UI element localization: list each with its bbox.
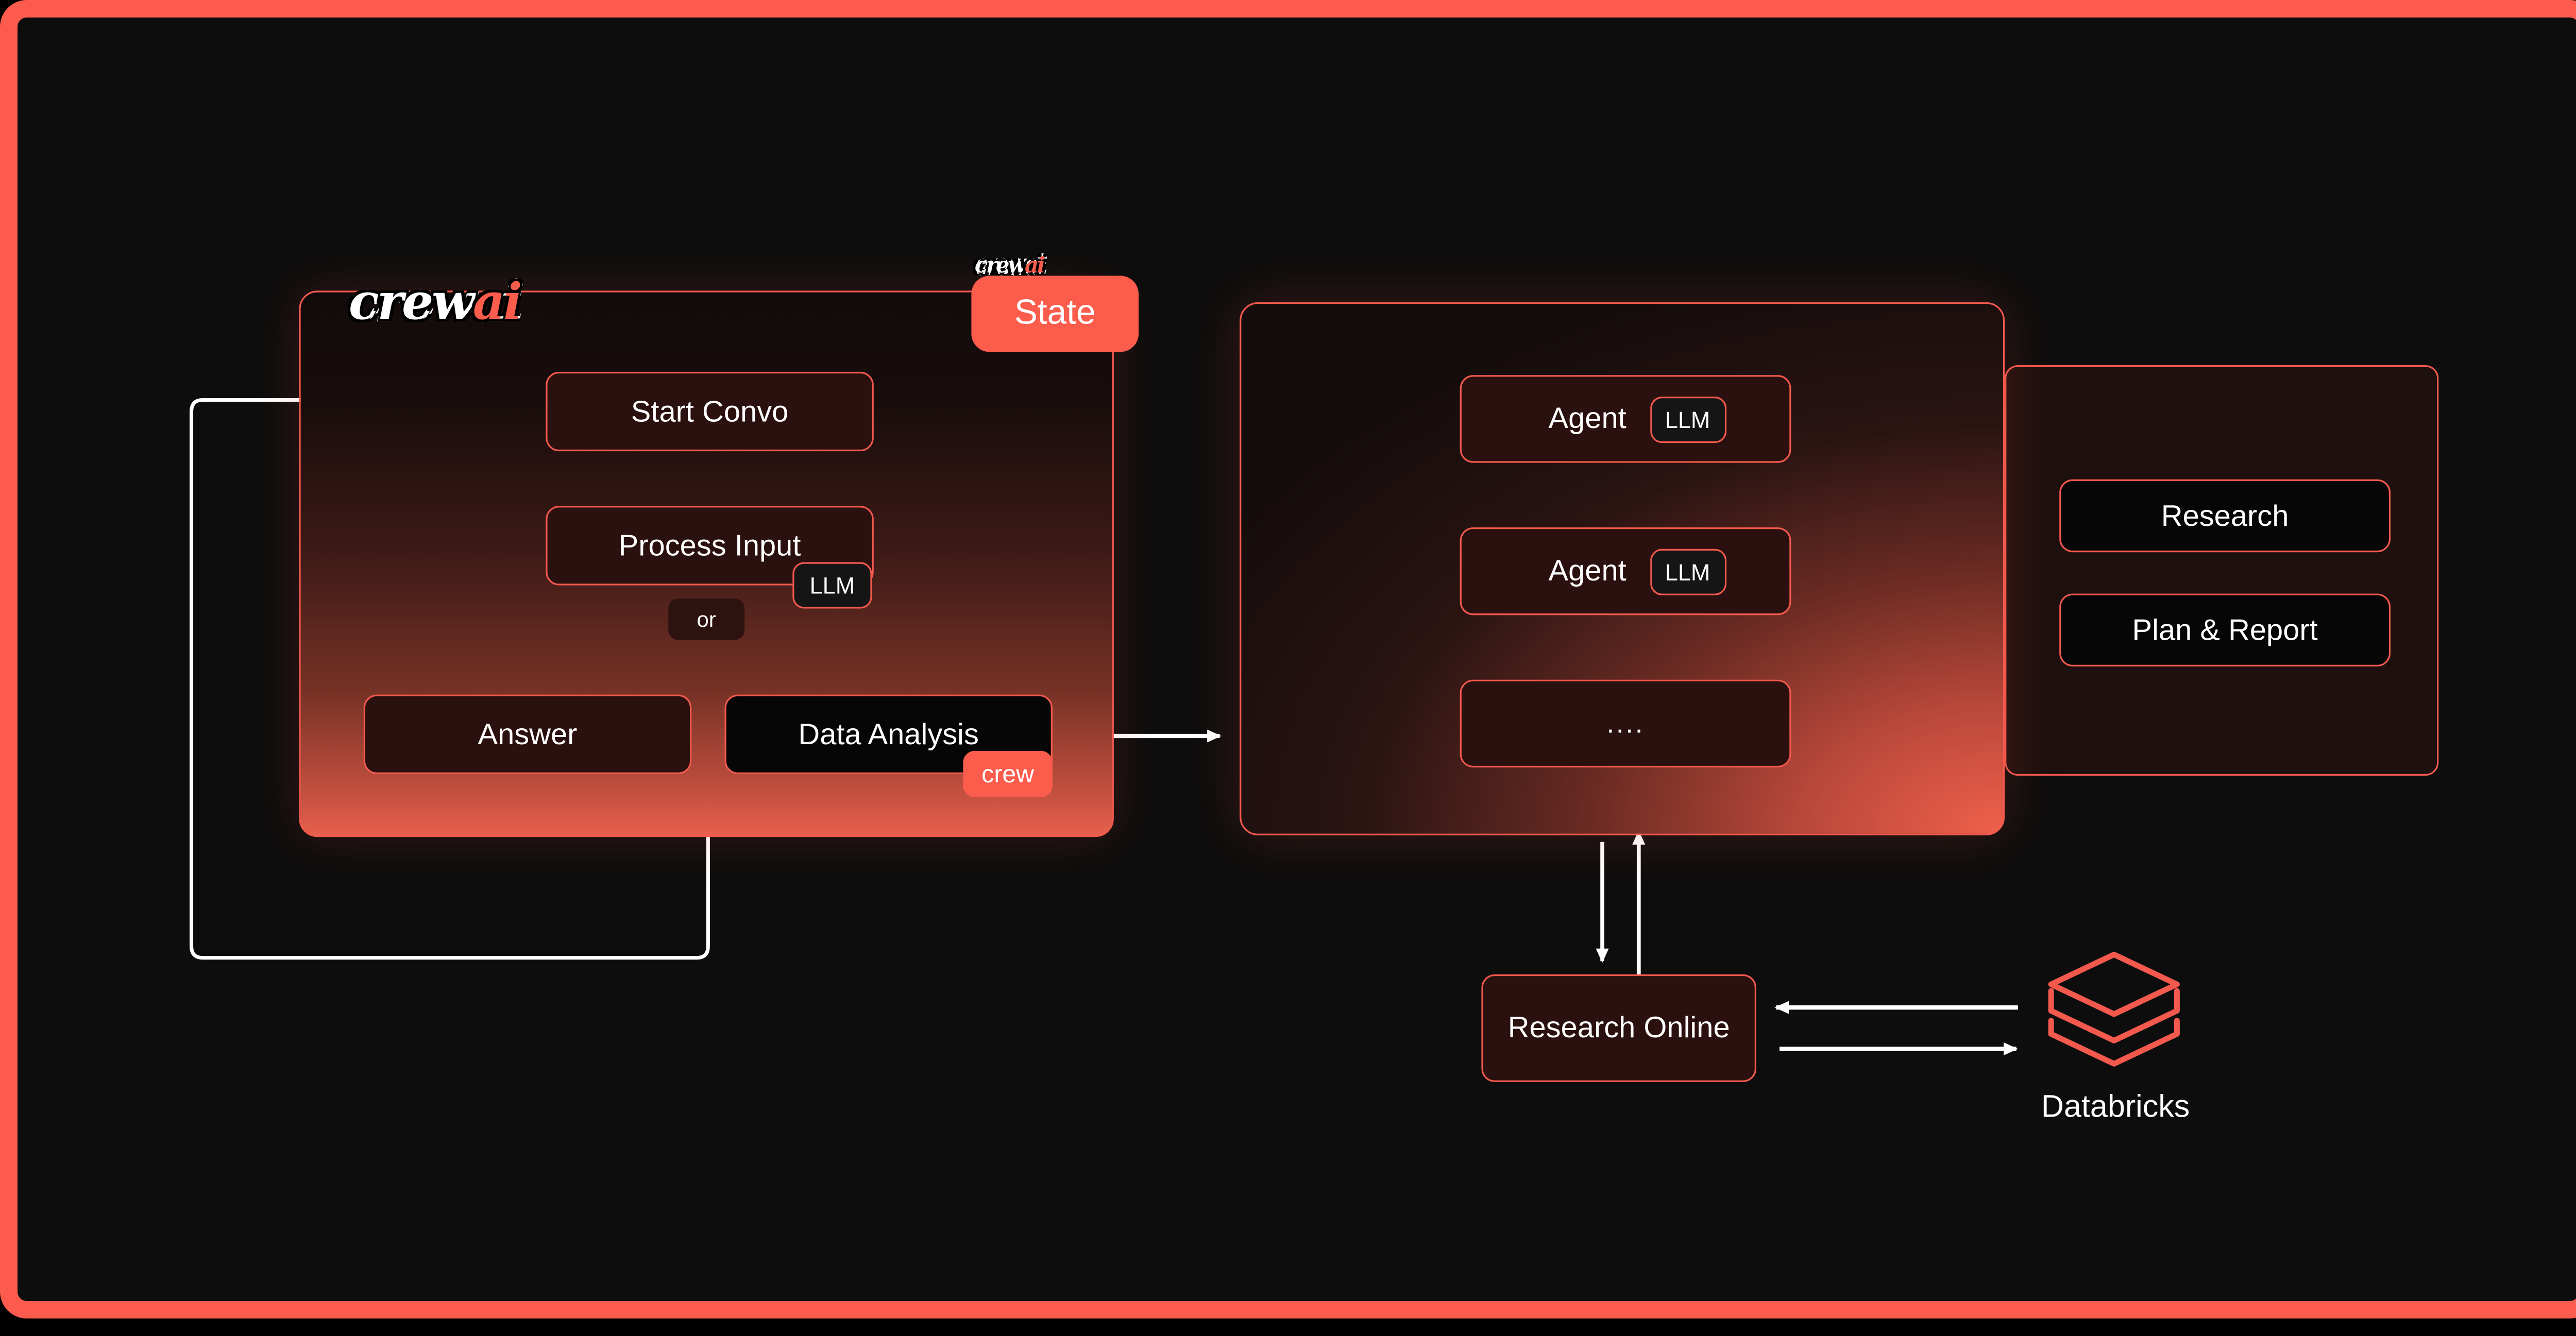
agent-1-llm-badge: LLM (1650, 396, 1726, 442)
agent-row-2: Agent LLM (1460, 527, 1791, 615)
agent-row-1: Agent LLM (1460, 375, 1791, 463)
agent-more-label: .... (1606, 707, 1645, 740)
agent-2-llm-badge: LLM (1650, 548, 1726, 594)
task-plan-report-label: Plan & Report (2132, 613, 2318, 648)
agent-row-more: .... (1460, 680, 1791, 767)
node-answer-label: Answer (478, 717, 578, 752)
flow-panel: Start Convo Process Input LLM Answer Dat… (299, 290, 1113, 837)
agent-2-label: Agent (1549, 554, 1626, 589)
process-input-llm-badge: LLM (792, 562, 872, 609)
state-crewai-crew-text: crew (975, 254, 1025, 279)
node-answer: Answer (364, 695, 691, 774)
databricks-layers-icon (2041, 948, 2187, 1077)
node-start-convo-label: Start Convo (631, 394, 789, 429)
state-crewai-ai-text: ai (1025, 254, 1044, 279)
task-research-label: Research (2161, 499, 2289, 534)
diagram-canvas: Research Plan & Report Agent LLM Agent L… (18, 18, 2576, 1336)
task-research: Research (2059, 479, 2391, 552)
data-analysis-crew-badge: crew (963, 751, 1053, 797)
outer-frame: Research Plan & Report Agent LLM Agent L… (0, 0, 2576, 1318)
crewai-wordmark: crewai (349, 279, 521, 329)
task-plan-report: Plan & Report (2059, 594, 2391, 666)
tasks-panel: Research Plan & Report (2005, 365, 2438, 776)
crewai-ai-text: ai (473, 274, 521, 332)
databricks-group: Databricks (2041, 948, 2187, 1113)
or-badge-label: or (697, 607, 716, 631)
or-badge: or (668, 598, 744, 640)
databricks-label: Databricks (2041, 1090, 2187, 1127)
state-badge-label: State (1014, 294, 1096, 334)
diagram-scaler: Research Plan & Report Agent LLM Agent L… (18, 18, 2576, 1335)
agent-1-label: Agent (1549, 402, 1626, 437)
state-crewai-wordmark: crewai (975, 256, 1044, 278)
crewai-crew-text: crew (349, 274, 473, 332)
state-badge: State (971, 276, 1139, 352)
node-research-online: Research Online (1481, 974, 1756, 1082)
node-start-convo: Start Convo (546, 372, 873, 451)
node-data-analysis-label: Data Analysis (798, 717, 979, 752)
node-research-online-label: Research Online (1508, 1011, 1730, 1046)
node-process-input-label: Process Input (619, 528, 801, 563)
crew-panel: Agent LLM Agent LLM .... (1240, 302, 2005, 835)
